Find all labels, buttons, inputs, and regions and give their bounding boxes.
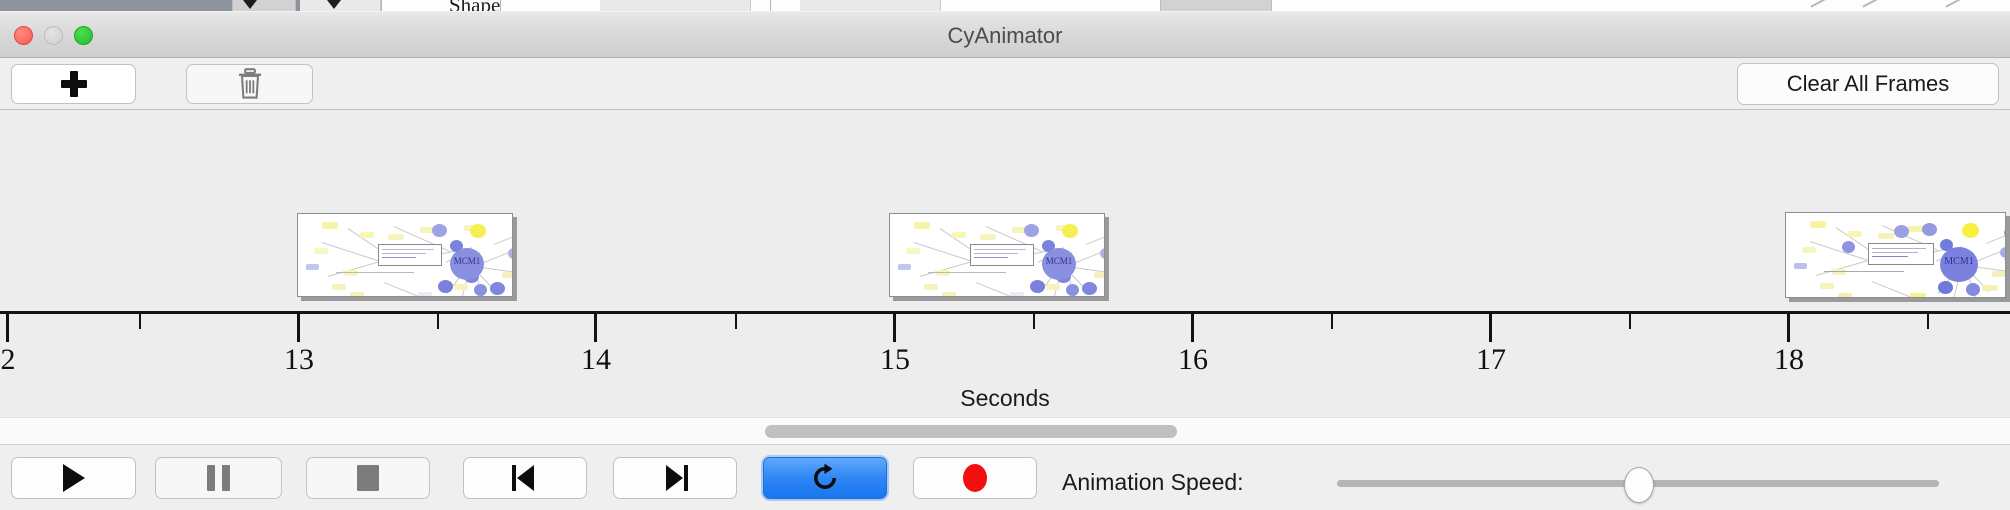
timeline-canvas[interactable]: MCM1 [0, 110, 2010, 313]
ruler-tick-label: 16 [1153, 343, 1233, 377]
window-title: CyAnimator [0, 12, 2010, 59]
ruler-tick-major [594, 314, 597, 342]
background-slash-icon [1810, 0, 1825, 8]
trash-icon [235, 68, 265, 100]
loop-icon [811, 463, 839, 493]
add-frame-button[interactable] [11, 64, 136, 104]
ruler-tick-minor [139, 314, 141, 329]
animation-speed-label: Animation Speed: [1062, 469, 1244, 496]
timeline-ruler[interactable]: 2131415161718 Seconds [0, 311, 2010, 421]
background-slash-icon [1945, 0, 1960, 8]
ruler-tick-minor [1033, 314, 1035, 329]
play-icon [63, 464, 85, 492]
cyanimator-window: Shape CyAnimator Clear All [0, 0, 2010, 510]
pause-button[interactable] [155, 457, 282, 499]
ruler-tick-label: 14 [556, 343, 636, 377]
skip-forward-icon [660, 465, 690, 491]
timeline-frame-thumbnail[interactable]: MCM1 [297, 213, 513, 297]
ruler-tick-minor [735, 314, 737, 329]
tooltip-box [1868, 243, 1934, 265]
playback-toolbar: Animation Speed: [0, 444, 2010, 510]
ruler-tick-major [1489, 314, 1492, 342]
play-button[interactable] [11, 457, 136, 499]
ruler-tick-major [297, 314, 300, 342]
window-titlebar[interactable]: CyAnimator [0, 11, 2010, 58]
timeline-frame-thumbnail[interactable]: MCM1 [1785, 212, 2006, 298]
ruler-tick-minor [1629, 314, 1631, 329]
scrollbar-thumb[interactable] [765, 425, 1177, 438]
ruler-tick-major [6, 314, 9, 342]
ruler-tick-major [1787, 314, 1790, 342]
ruler-tick-major [1191, 314, 1194, 342]
animation-speed-slider-thumb[interactable] [1624, 467, 1654, 503]
record-icon [963, 464, 987, 492]
ruler-tick-minor [1927, 314, 1929, 329]
network-graph-preview: MCM1 [297, 213, 513, 297]
frame-toolbar: Clear All Frames [0, 58, 2010, 110]
timeline-frame-thumbnail[interactable]: MCM1 [889, 213, 1105, 297]
ruler-tick-label: 13 [259, 343, 339, 377]
ruler-tick-minor [437, 314, 439, 329]
network-graph-preview: MCM1 [889, 213, 1105, 297]
ruler-axis-line [0, 311, 2010, 314]
skip-back-icon [510, 465, 540, 491]
hub-node-label: MCM1 [1042, 256, 1076, 266]
clear-all-frames-button[interactable]: Clear All Frames [1737, 63, 1999, 105]
ruler-tick-label: 15 [855, 343, 935, 377]
ruler-axis-label: Seconds [0, 385, 2010, 412]
hub-node-label: MCM1 [450, 256, 484, 266]
tooltip-box [378, 244, 442, 266]
network-graph-preview: MCM1 [1785, 212, 2006, 298]
record-button[interactable] [913, 457, 1037, 499]
stop-button[interactable] [306, 457, 430, 499]
plus-icon [61, 71, 87, 97]
pause-icon [207, 465, 230, 491]
background-slash-icon [1862, 0, 1877, 8]
loop-button[interactable] [763, 457, 887, 499]
ruler-tick-major [893, 314, 896, 342]
ruler-tick-label: 17 [1451, 343, 1531, 377]
ruler-tick-label: 2 [0, 343, 48, 377]
stop-icon [357, 465, 379, 491]
skip-forward-button[interactable] [613, 457, 737, 499]
background-triangle-icon [327, 0, 341, 9]
tooltip-box [970, 244, 1034, 266]
skip-back-button[interactable] [463, 457, 587, 499]
hub-node-label: MCM1 [1940, 256, 1978, 267]
background-triangle-icon [243, 0, 257, 9]
ruler-tick-label: 18 [1749, 343, 1829, 377]
ruler-tick-minor [1331, 314, 1333, 329]
timeline-scrollbar[interactable] [0, 417, 2010, 444]
delete-frame-button[interactable] [186, 64, 313, 104]
